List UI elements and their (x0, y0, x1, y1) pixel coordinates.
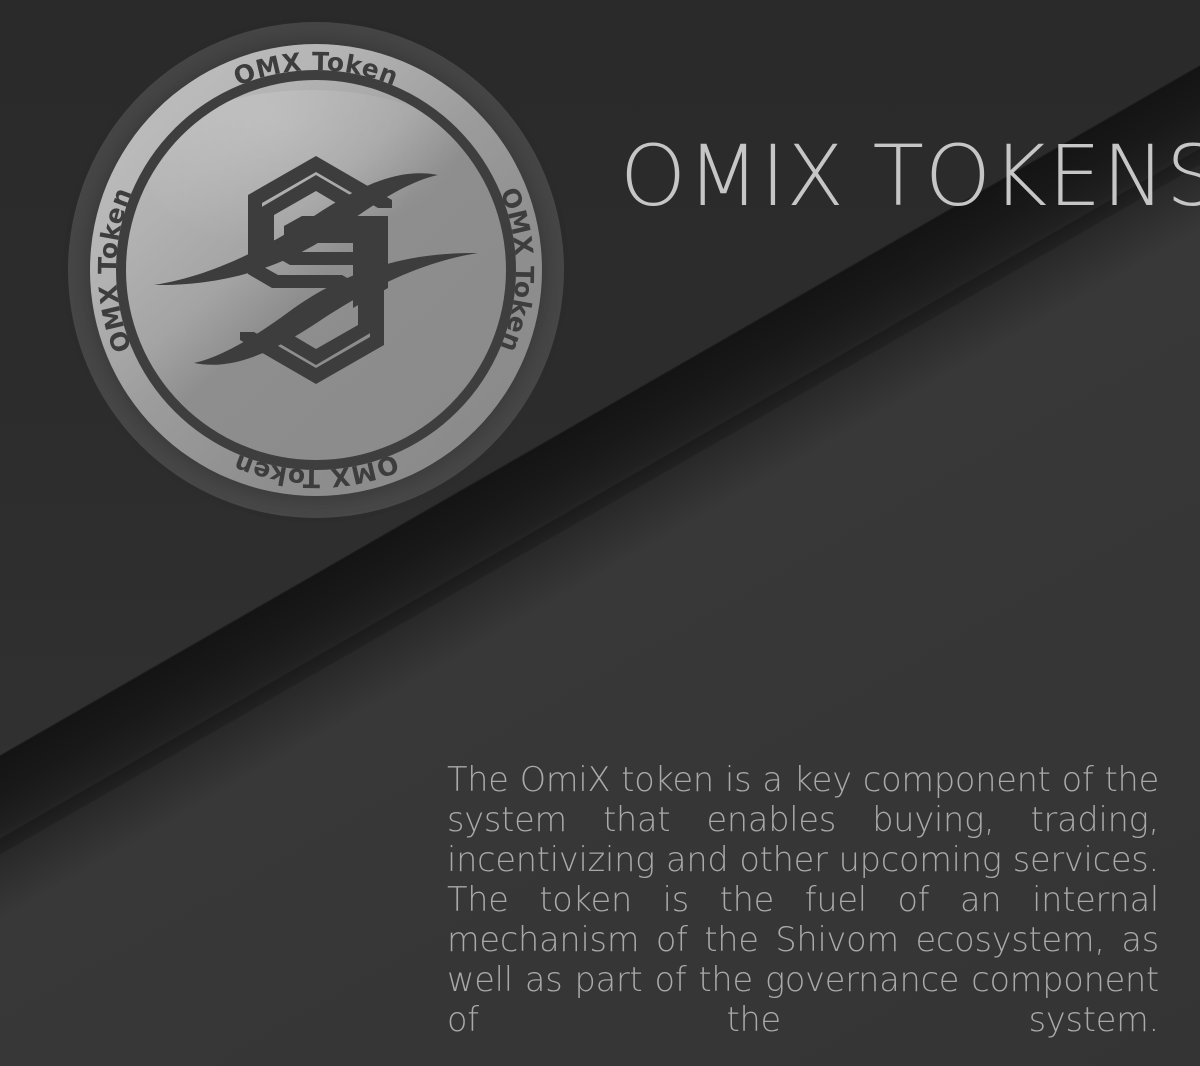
body-paragraph: The OmiX token is a key component of the… (447, 760, 1159, 1040)
page-title: OMIX TOKENS (620, 134, 1200, 218)
shivom-eye-hex-s-logo-icon (126, 80, 506, 460)
omx-token-coin: OMX Token OMX Token OMX Token OMX Token (68, 22, 564, 518)
slide-canvas: OMX Token OMX Token OMX Token OMX Token (0, 0, 1200, 1066)
